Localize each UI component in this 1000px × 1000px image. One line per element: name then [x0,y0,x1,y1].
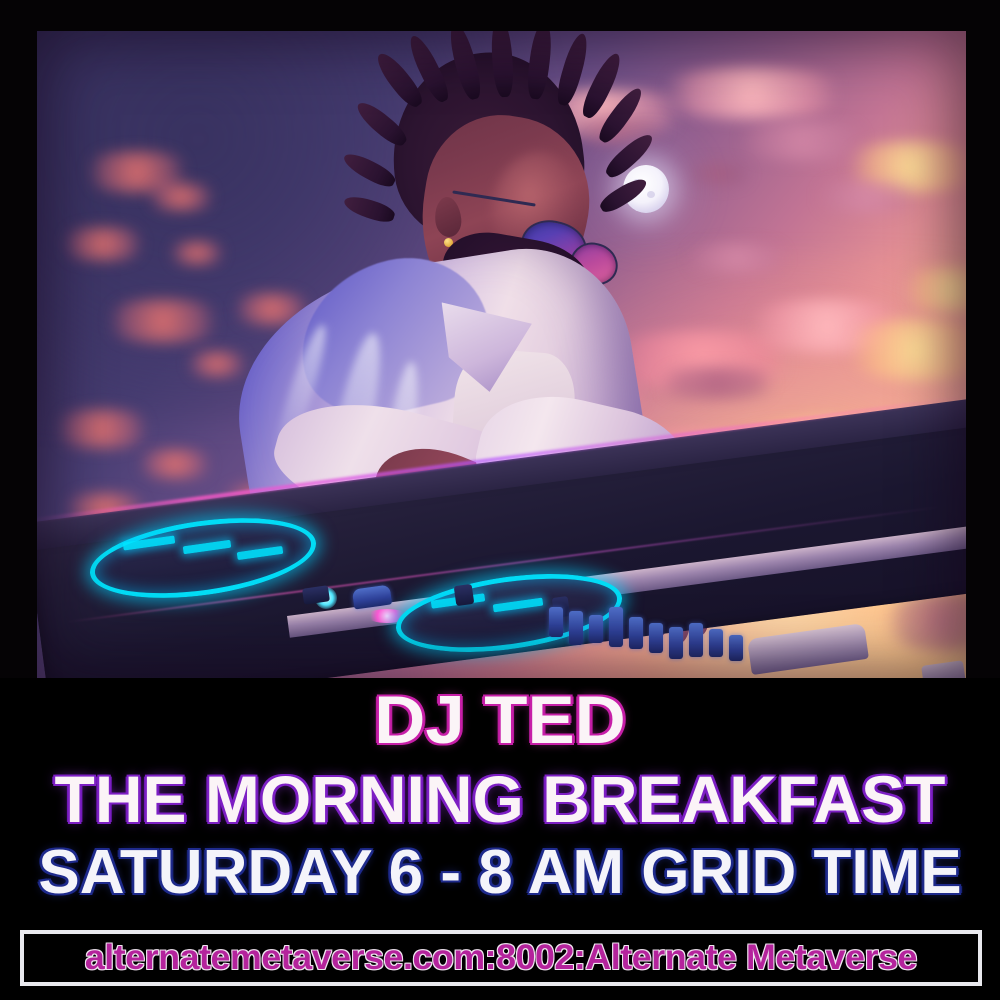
mixer-fader [729,635,743,661]
mixer-fader [629,617,643,649]
mixer-fader [589,615,603,643]
show-title-heading: THE MORNING BREAKFAST [0,766,1000,832]
schedule-heading: SATURDAY 6 - 8 AM GRID TIME [0,842,1000,904]
mixer-fader [709,629,723,657]
artist-name-heading: DJ TED [0,686,1000,754]
dj-hair-lock [340,149,398,191]
grid-url-text[interactable]: alternatemetaverse.com:8002:Alternate Me… [85,940,917,976]
url-banner[interactable]: alternatemetaverse.com:8002:Alternate Me… [20,930,982,986]
poster-root: DJ TED THE MORNING BREAKFAST SATURDAY 6 … [0,0,1000,1000]
deck-button [454,584,475,606]
mixer-fader [689,623,703,657]
dj-hair-lock [597,174,650,216]
mixer-fader [669,627,683,659]
poster-text-block: DJ TED THE MORNING BREAKFAST SATURDAY 6 … [0,678,1000,1000]
mixer-fader [569,611,583,645]
dj-hair-lock [342,192,397,225]
mixer-fader [649,623,663,653]
dj-artwork-image [37,31,966,678]
mixer-fader [549,607,563,637]
mixer-fader [609,607,623,647]
